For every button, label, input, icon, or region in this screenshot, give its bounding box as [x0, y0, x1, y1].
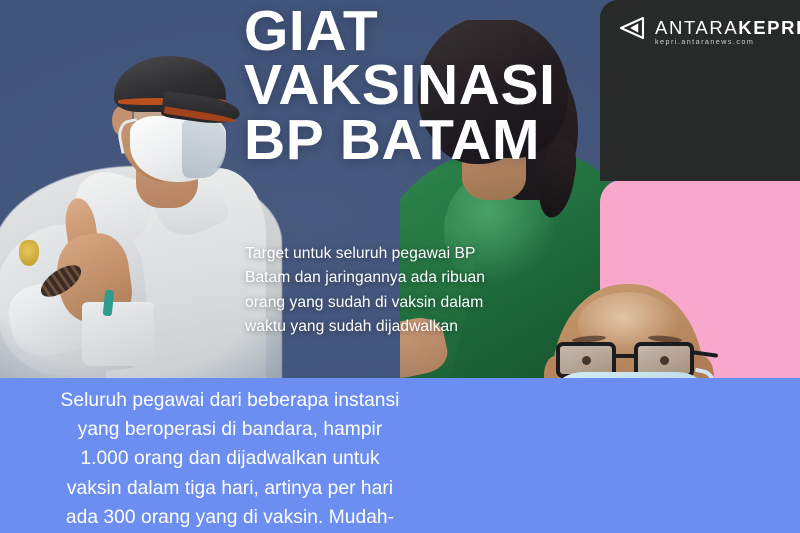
quote-line-2: yang beroperasi di bandara, hampir [0, 415, 460, 444]
eye-right [660, 356, 669, 365]
headline-line-3: BP BATAM [244, 113, 644, 167]
quote-line-1: Seluruh pegawai dari beberapa instansi [0, 386, 460, 415]
headline-line-1: GIAT [244, 4, 644, 58]
headline: GIAT VAKSINASI BP BATAM [244, 4, 644, 167]
quote-line-5: ada 300 orang yang di vaksin. Mudah- [0, 503, 460, 532]
logo-website-url: kepri.antaranews.com [655, 37, 754, 46]
infographic-canvas: GIAT VAKSINASI BP BATAM Target untuk sel… [0, 0, 800, 533]
logo-panel: ANTARAKEPRI kepri.antaranews.com [600, 0, 800, 181]
antara-triangle-play-icon [618, 14, 646, 42]
eyeglass-bridge [614, 354, 636, 358]
logo-word-kepri: KEPRI [738, 17, 800, 38]
shirt-pocket-shape [82, 302, 154, 366]
logo-word-antara: ANTARA [655, 17, 738, 38]
headline-line-2: VAKSINASI [244, 58, 644, 112]
quote-line-3: 1.000 orang dan dijadwalkan untuk [0, 444, 460, 473]
shoulder-badge-shape [19, 240, 39, 266]
quote-text-block: Seluruh pegawai dari beberapa instansi y… [0, 386, 460, 532]
logo-wordmark: ANTARAKEPRI [655, 19, 800, 38]
quote-banner: Seluruh pegawai dari beberapa instansi y… [0, 378, 800, 533]
quote-line-4: vaksin dalam tiga hari, artinya per hari [0, 474, 460, 503]
subtitle-line-1: Target untuk seluruh pegawai BP [245, 242, 565, 266]
eye-left [582, 356, 591, 365]
